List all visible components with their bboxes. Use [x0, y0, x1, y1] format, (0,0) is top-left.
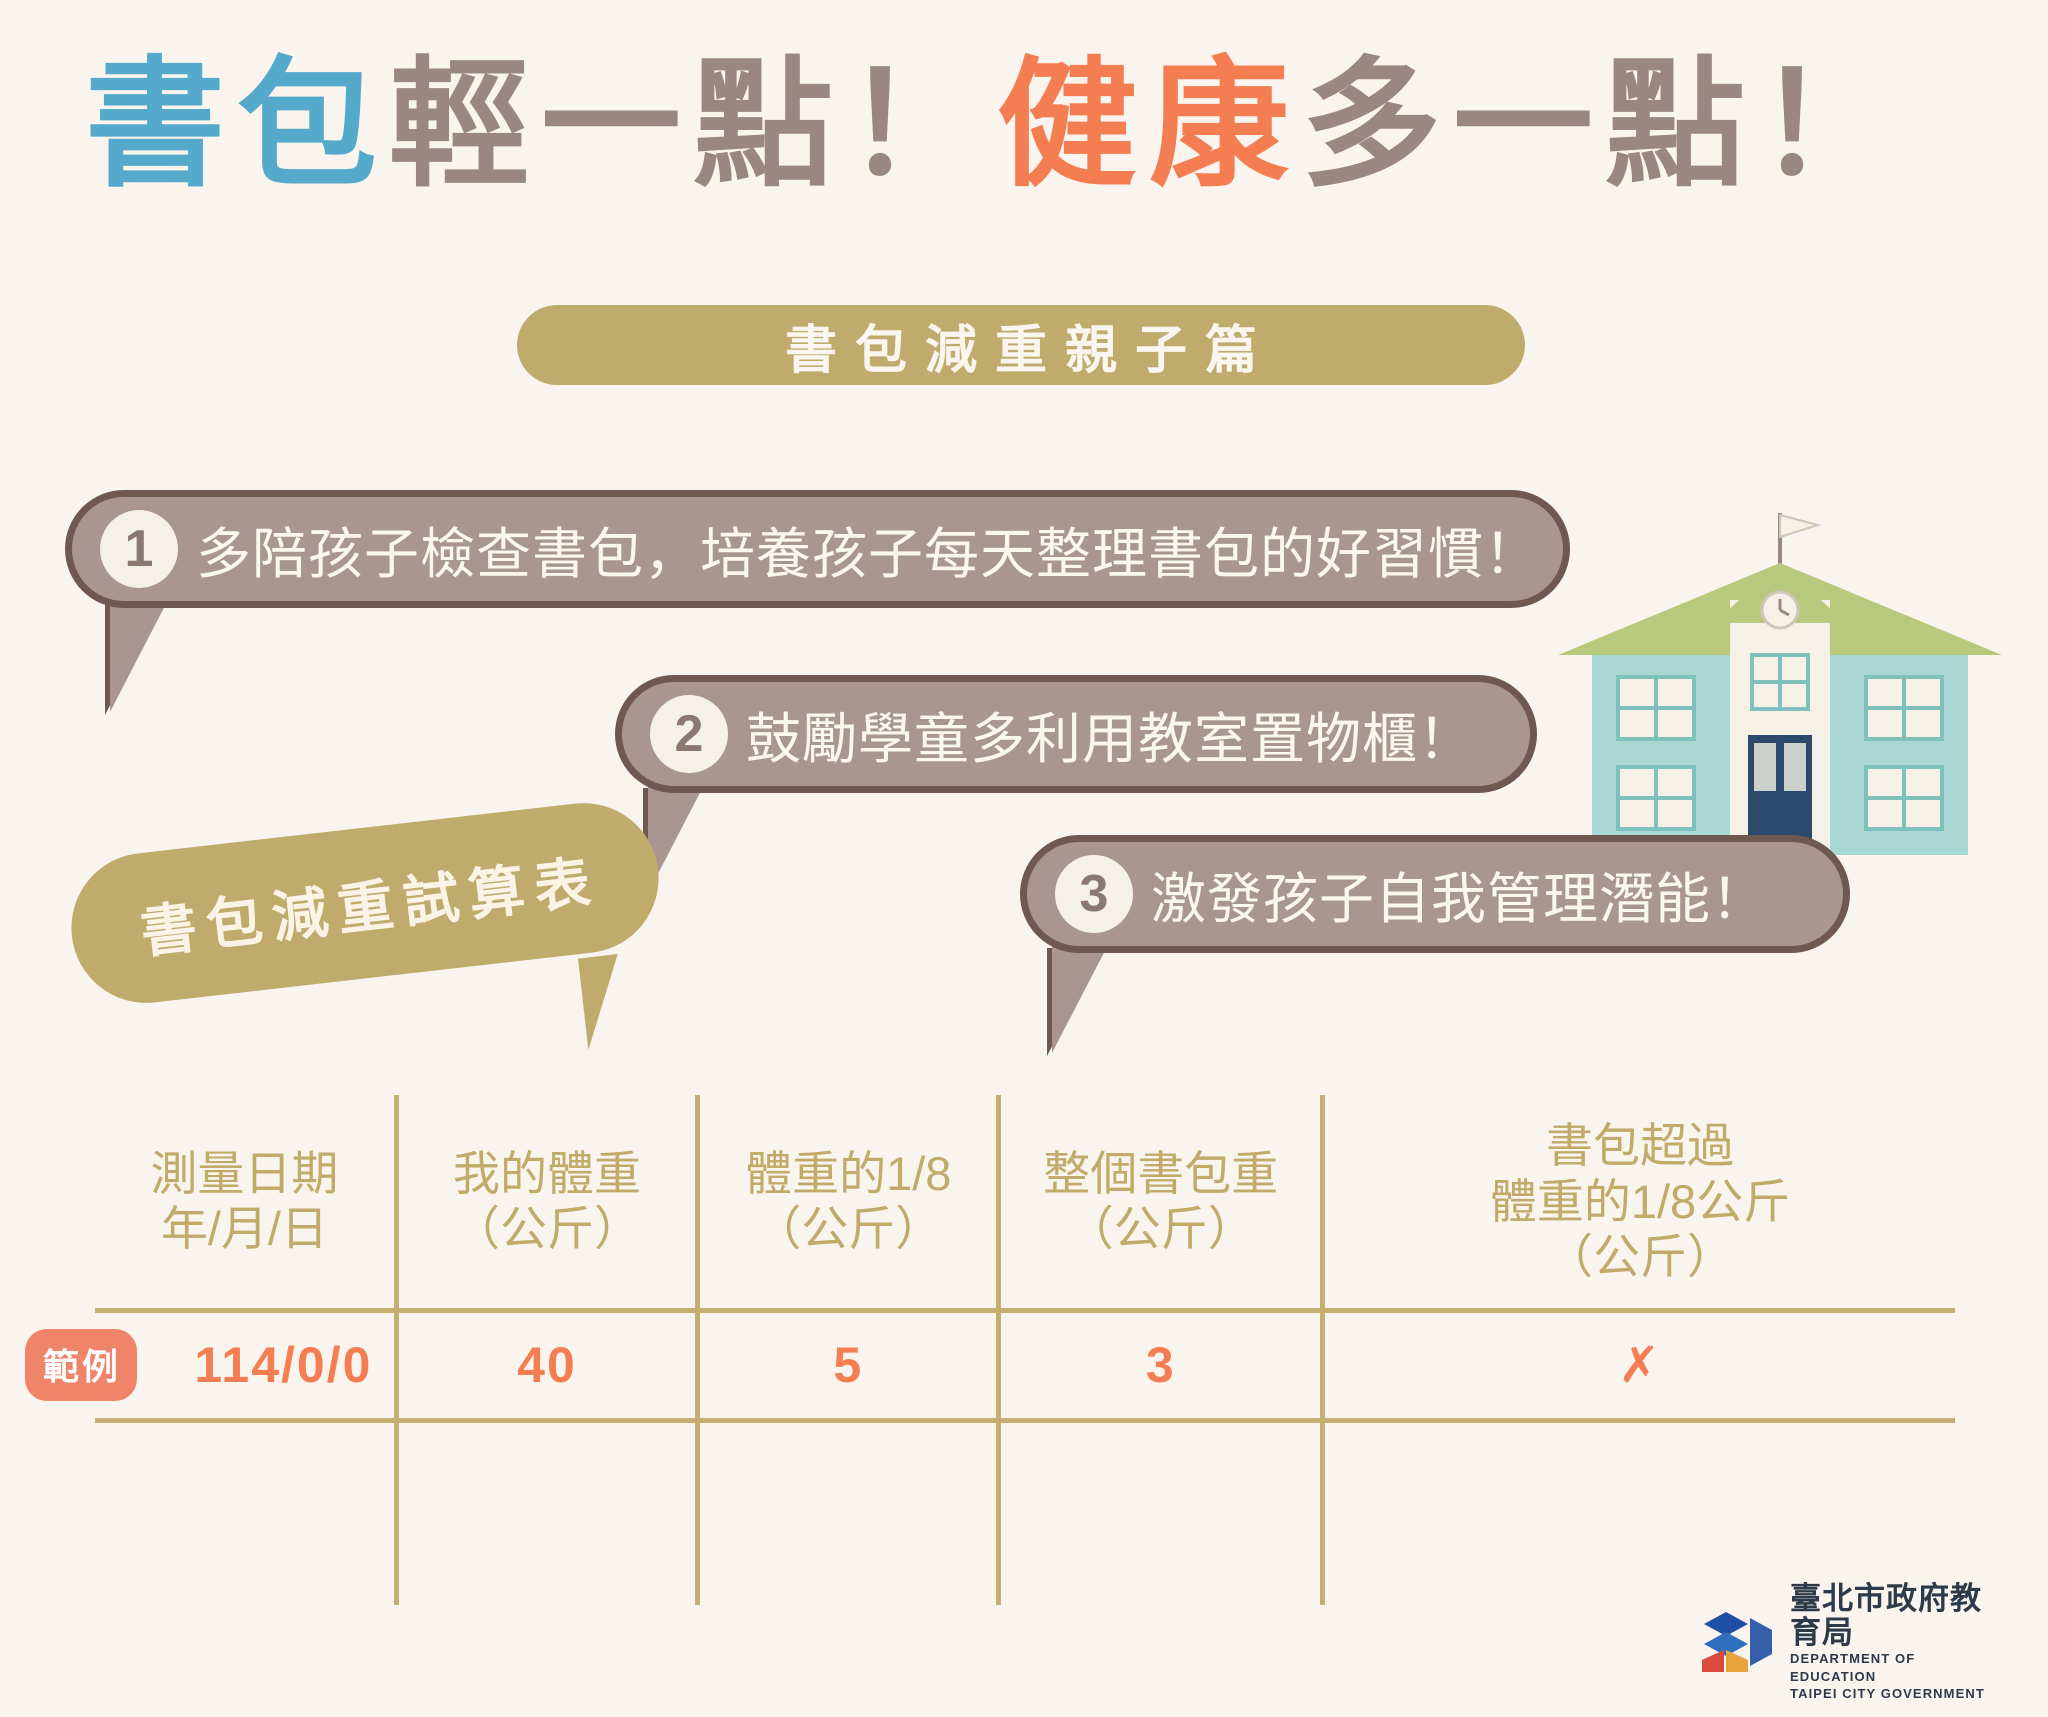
subtitle-label: 書包減重親子篇: [767, 308, 1275, 383]
table-row-example[interactable]: 範例 114/0/0 40 5 3 ✗: [95, 1310, 1955, 1420]
cell-blank-over[interactable]: [1323, 1420, 1955, 1605]
cell-example-eighth[interactable]: 5: [698, 1310, 999, 1420]
title-part-2: 輕一點！: [389, 46, 997, 203]
col-header-date-line2: 年/月/日: [101, 1201, 388, 1256]
title-part-4: 多一點！: [1301, 46, 1909, 203]
example-badge: 範例: [25, 1329, 137, 1401]
page-title: 書包輕一點！健康多一點！: [85, 55, 1965, 195]
infographic-canvas: 書包輕一點！健康多一點！ 書包減重親子篇: [0, 0, 2048, 1717]
tip-bubble-2[interactable]: 2 鼓勵學童多利用教室置物櫃！: [615, 675, 1537, 793]
cell-blank-weight[interactable]: [396, 1420, 697, 1605]
tip-3-number: 3: [1055, 855, 1133, 933]
col-header-bag-weight-line1: 整個書包重: [1007, 1146, 1314, 1201]
table-row-blank[interactable]: [95, 1420, 1955, 1605]
col-header-over-line1: 書包超過: [1331, 1118, 1949, 1173]
col-header-my-weight: 我的體重 （公斤）: [396, 1095, 697, 1310]
cell-example-date[interactable]: 範例 114/0/0: [95, 1310, 396, 1420]
col-header-bag-weight: 整個書包重 （公斤）: [999, 1095, 1323, 1310]
cell-example-over[interactable]: ✗: [1323, 1310, 1955, 1420]
col-header-date: 測量日期 年/月/日: [95, 1095, 396, 1310]
table-header-row: 測量日期 年/月/日 我的體重 （公斤） 體重的1/8 （公斤） 整個書包重 （…: [95, 1095, 1955, 1310]
bubble-3-tail: [1052, 945, 1108, 1053]
title-part-3: 健康: [997, 46, 1301, 203]
cell-example-bag[interactable]: 3: [999, 1310, 1323, 1420]
col-header-over-line3: （公斤）: [1331, 1229, 1949, 1284]
col-header-date-line1: 測量日期: [101, 1146, 388, 1201]
cell-blank-bag[interactable]: [999, 1420, 1323, 1605]
tip-1-text: 多陪孩子檢查書包，培養孩子每天整理書包的好習慣！: [196, 509, 1540, 589]
bubble-1-tail: [110, 600, 168, 712]
tip-2-number: 2: [650, 695, 728, 773]
col-header-my-weight-line2: （公斤）: [405, 1201, 689, 1256]
calc-label-text: 書包減重試算表: [126, 836, 604, 970]
weight-calculation-table: 測量日期 年/月/日 我的體重 （公斤） 體重的1/8 （公斤） 整個書包重 （…: [95, 1095, 1955, 1605]
cell-example-date-value: 114/0/0: [194, 1336, 372, 1394]
tip-2-text: 鼓勵學童多利用教室置物櫃！: [746, 694, 1474, 774]
col-header-eighth-line2: （公斤）: [706, 1201, 990, 1256]
cell-blank-date[interactable]: [95, 1420, 396, 1605]
logo-name-cn: 臺北市政府教育局: [1790, 1582, 2000, 1650]
logo-name-en-line2: TAIPEI CITY GOVERNMENT: [1790, 1685, 2000, 1703]
title-part-1: 書包: [85, 46, 389, 203]
taipei-city-emblem-icon: [1700, 1610, 1778, 1676]
col-header-eighth: 體重的1/8 （公斤）: [698, 1095, 999, 1310]
calc-label-tail: [578, 952, 646, 1050]
col-header-my-weight-line1: 我的體重: [405, 1146, 689, 1201]
col-header-eighth-line1: 體重的1/8: [706, 1146, 990, 1201]
calc-table-label: 書包減重試算表: [63, 795, 666, 1011]
school-building-illustration: [1540, 505, 2020, 855]
tip-3-text: 激發孩子自我管理潛能！: [1151, 854, 1767, 934]
tip-1-number: 1: [100, 510, 178, 588]
tip-bubble-1[interactable]: 1 多陪孩子檢查書包，培養孩子每天整理書包的好習慣！: [65, 490, 1570, 608]
subtitle-banner: 書包減重親子篇: [517, 305, 1525, 385]
logo-name-en-line1: DEPARTMENT OF EDUCATION: [1790, 1650, 2000, 1685]
cell-blank-eighth[interactable]: [698, 1420, 999, 1605]
taipei-education-logo: 臺北市政府教育局 DEPARTMENT OF EDUCATION TAIPEI …: [1700, 1600, 2000, 1685]
col-header-bag-weight-line2: （公斤）: [1007, 1201, 1314, 1256]
cell-example-weight[interactable]: 40: [396, 1310, 697, 1420]
tip-bubble-3[interactable]: 3 激發孩子自我管理潛能！: [1020, 835, 1850, 953]
logo-text-block: 臺北市政府教育局 DEPARTMENT OF EDUCATION TAIPEI …: [1790, 1582, 2000, 1703]
col-header-over: 書包超過 體重的1/8公斤 （公斤）: [1323, 1095, 1955, 1310]
col-header-over-line2: 體重的1/8公斤: [1331, 1174, 1949, 1229]
